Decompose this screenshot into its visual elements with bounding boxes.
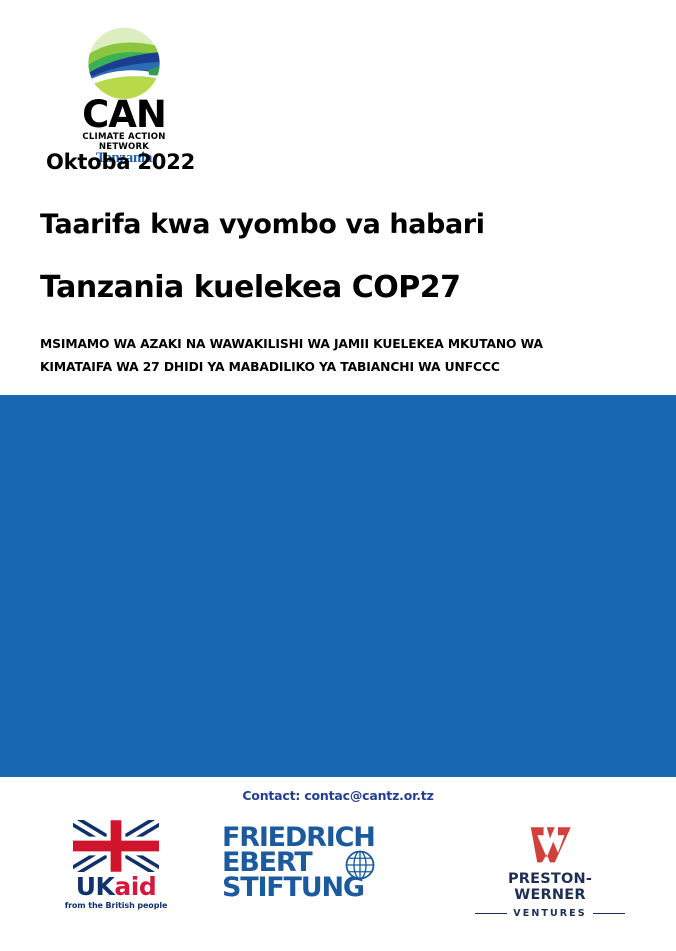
can-expansion: CLIMATE ACTION NETWORK bbox=[67, 131, 181, 151]
pwv-sub-text: VENTURES bbox=[513, 908, 586, 919]
friedrich-ebert-stiftung-logo: FRIEDRICH EBERT STIFTUNG bbox=[222, 826, 397, 900]
rule-right bbox=[593, 913, 625, 915]
svg-text:CLIMATE ACTION NETWORK: CLIMATE ACTION NETWORK bbox=[409, 450, 527, 459]
ukaid-word-aid: aid bbox=[114, 872, 156, 901]
contact-line[interactable]: Contact: contac@cantz.or.tz bbox=[0, 788, 676, 803]
eyebrow-title: Taarifa kwa vyombo va habari bbox=[40, 209, 485, 240]
ukaid-wordmark: UKaid bbox=[56, 874, 176, 899]
ukaid-tagline: from the British people bbox=[56, 901, 176, 910]
cover-photo: FORUM CC Save the Children CAN CLIMATE bbox=[0, 395, 676, 777]
funder-logo-strip: UKaid from the British people FRIEDRICH … bbox=[0, 812, 676, 937]
svg-text:CC: CC bbox=[232, 435, 275, 468]
svg-text:PINGO's FORUM: PINGO's FORUM bbox=[553, 419, 643, 430]
publication-date: Oktoba 2022 bbox=[46, 150, 195, 174]
page-title: Tanzania kuelekea COP27 bbox=[40, 270, 460, 305]
pwv-wordmark: PRESTON-WERNER bbox=[475, 871, 625, 903]
pwv-monogram-icon bbox=[526, 824, 574, 864]
photo-illustration: FORUM CC Save the Children CAN CLIMATE bbox=[0, 395, 676, 777]
svg-text:Tanzania: Tanzania bbox=[429, 460, 480, 475]
globe-icon bbox=[345, 850, 375, 880]
can-tanzania-logo: CAN CLIMATE ACTION NETWORK Tanzania bbox=[68, 26, 180, 167]
kicker-text: MSIMAMO WA AZAKI NA WAWAKILISHI WA JAMII… bbox=[40, 333, 585, 378]
ukaid-logo: UKaid from the British people bbox=[56, 820, 176, 910]
kicker-line-2: KIMATAIFA WA 27 DHIDI YA MABADILIKO YA T… bbox=[40, 356, 585, 379]
pwv-subline: VENTURES bbox=[475, 908, 625, 919]
kicker-line-1: MSIMAMO WA AZAKI NA WAWAKILISHI WA JAMII… bbox=[40, 333, 585, 356]
rule-left bbox=[475, 913, 507, 915]
union-jack-icon bbox=[73, 820, 159, 872]
svg-text:CAN: CAN bbox=[413, 419, 476, 450]
svg-text:FORUM: FORUM bbox=[136, 435, 246, 468]
can-acronym: CAN bbox=[68, 100, 180, 130]
svg-text:Save the: Save the bbox=[294, 428, 388, 450]
svg-text:Children: Children bbox=[294, 450, 384, 472]
document-page: CAN CLIMATE ACTION NETWORK Tanzania Okto… bbox=[0, 0, 676, 951]
ukaid-word-uk: UK bbox=[76, 872, 115, 901]
preston-werner-ventures-logo: PRESTON-WERNER VENTURES bbox=[475, 824, 625, 919]
